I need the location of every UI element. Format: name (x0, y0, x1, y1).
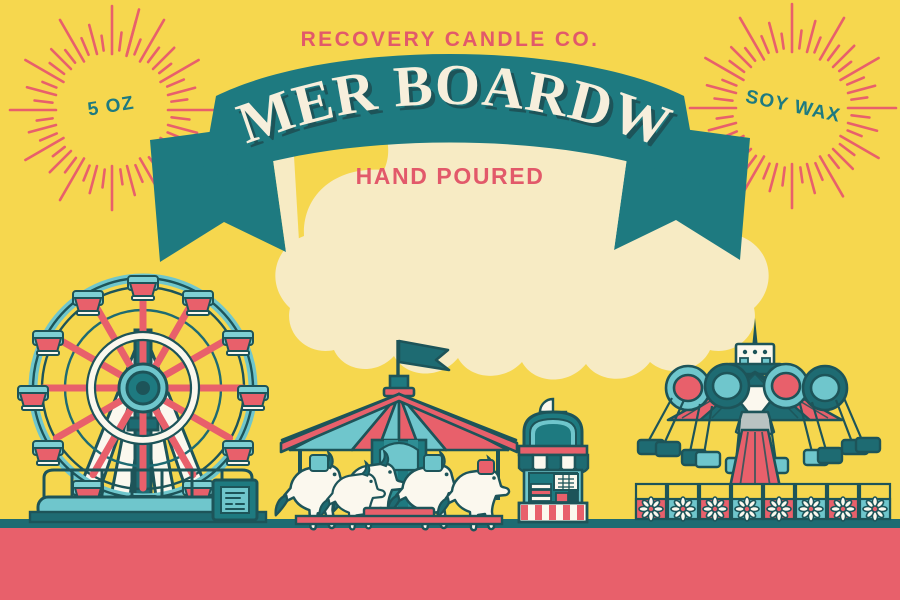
ticket-sign-icon (213, 480, 257, 520)
label-artwork: SUMMER BOARDWALK SUMMER BOARDWALK 5 OZ S… (0, 0, 900, 600)
candle-label: SUMMER BOARDWALK SUMMER BOARDWALK 5 OZ S… (0, 0, 900, 600)
ice-cream-stand (519, 399, 588, 522)
ground-band (0, 527, 900, 600)
brand-name: RECOVERY CANDLE CO. (0, 28, 900, 52)
hand-poured-label: HAND POURED (0, 163, 900, 190)
booth-row (636, 484, 890, 521)
